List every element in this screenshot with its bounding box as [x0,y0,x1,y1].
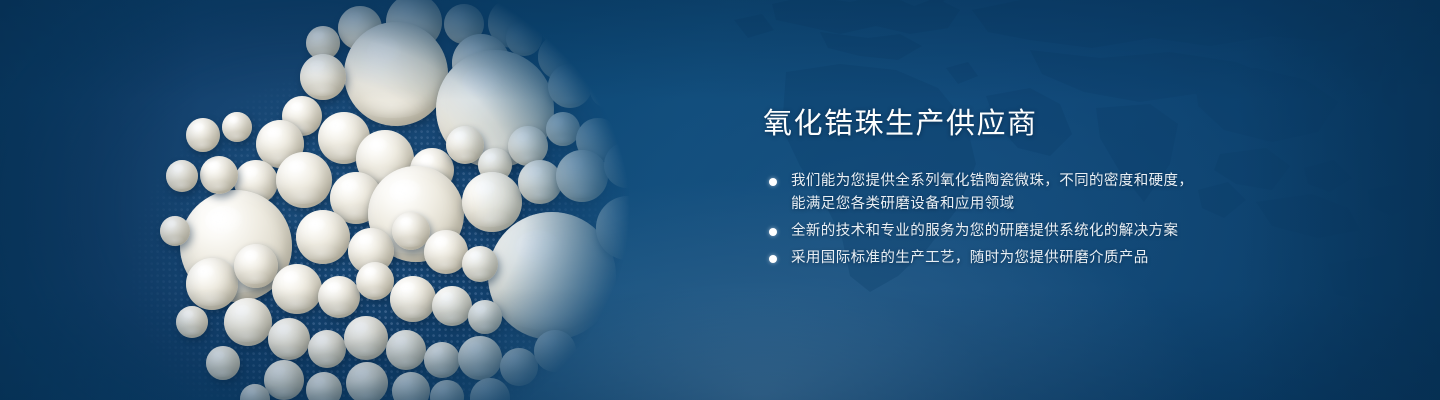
product-hero-banner: 氧化锆珠生产供应商 我们能为您提供全系列氧化锆陶瓷微珠，不同的密度和硬度， 能满… [0,0,1440,400]
bullet-circle-icon [769,228,777,236]
bullet-circle-icon [769,178,777,186]
bullet-line-1: 我们能为您提供全系列氧化锆陶瓷微珠，不同的密度和硬度， [791,173,1193,189]
bullet-line-1: 采用国际标准的生产工艺，随时为您提供研磨介质产品 [791,250,1149,266]
banner-text-block: 氧化锆珠生产供应商 我们能为您提供全系列氧化锆陶瓷微珠，不同的密度和硬度， 能满… [763,104,1323,274]
list-item: 采用国际标准的生产工艺，随时为您提供研磨介质产品 [763,247,1323,270]
feature-bullet-list: 我们能为您提供全系列氧化锆陶瓷微珠，不同的密度和硬度， 能满足您各类研磨设备和应… [763,170,1323,270]
list-item: 我们能为您提供全系列氧化锆陶瓷微珠，不同的密度和硬度， 能满足您各类研磨设备和应… [763,170,1323,216]
bullet-circle-icon [769,255,777,263]
bullet-line-1: 全新的技术和专业的服务为您的研磨提供系统化的解决方案 [791,223,1178,239]
bullet-line-2: 能满足您各类研磨设备和应用领域 [791,193,1323,216]
list-item: 全新的技术和专业的服务为您的研磨提供系统化的解决方案 [763,220,1323,243]
banner-headline: 氧化锆珠生产供应商 [763,104,1323,144]
